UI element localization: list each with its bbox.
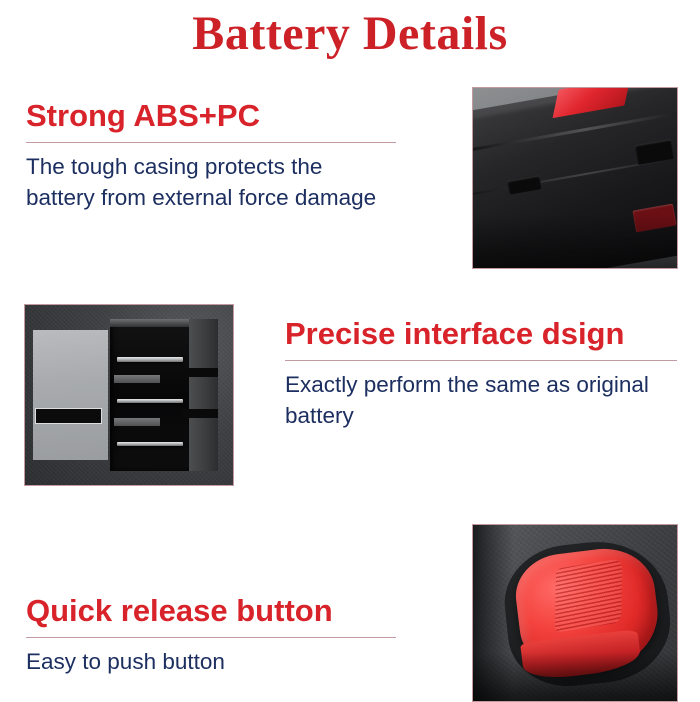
terminal-rib [114,418,160,426]
feature-body-quick-release: Easy to push button [26,646,396,677]
photo-content [25,305,233,485]
feature-block-precise-interface: Precise interface dsign Exactly perform … [285,315,677,431]
button-ribs [554,558,622,633]
feature-body-precise-interface: Exactly perform the same as original bat… [285,369,677,431]
terminal-rib [114,375,160,383]
feature-heading-precise-interface: Precise interface dsign [285,315,677,353]
terminal-panel-slot [35,408,102,424]
feature-divider [285,360,677,361]
photo-content [473,88,677,268]
feature-heading-strong-abs-pc: Strong ABS+PC [26,97,396,135]
photo-shadow [473,214,677,268]
battery-terminal-photo [24,304,234,486]
terminal-well [110,319,193,470]
terminal-step [181,368,218,377]
terminal-grey-panel [33,330,108,460]
terminal-contact-blade [117,442,184,447]
feature-block-quick-release: Quick release button Easy to push button [26,592,396,677]
terminal-well-lip [110,319,193,326]
feature-heading-quick-release: Quick release button [26,592,396,630]
terminal-contact-blade [117,399,184,404]
photo-content [473,525,677,701]
terminal-step [181,409,218,418]
terminal-contact-blade [117,357,184,362]
feature-divider [26,142,396,143]
photo-shadow [473,652,677,701]
feature-block-strong-abs-pc: Strong ABS+PC The tough casing protects … [26,97,396,213]
feature-divider [26,637,396,638]
battery-casing-photo [472,87,678,269]
terminal-right-wall [189,319,218,470]
feature-body-strong-abs-pc: The tough casing protects the battery fr… [26,151,396,213]
quick-release-button-photo [472,524,678,702]
page-title: Battery Details [0,6,700,62]
